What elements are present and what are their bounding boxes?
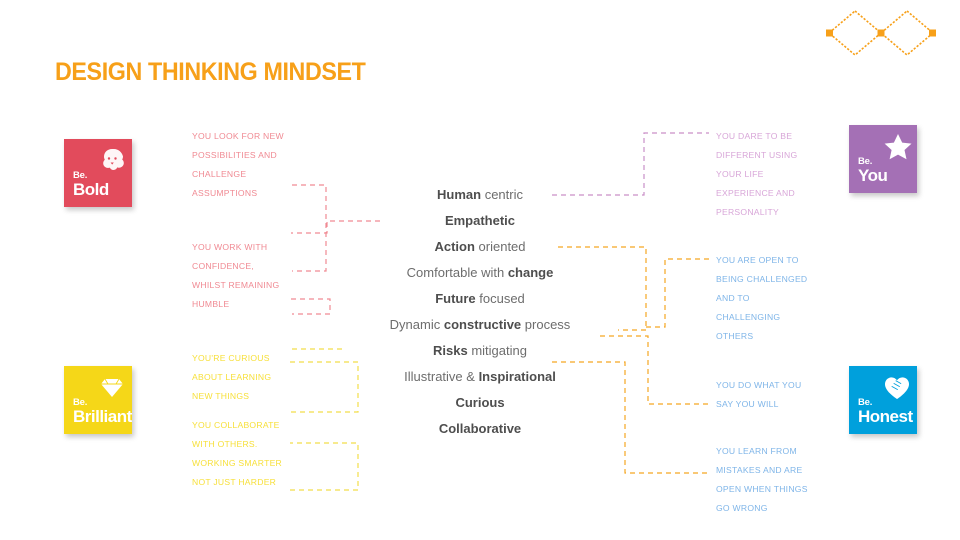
mindset-item: Empathetic <box>360 208 600 234</box>
mindset-item-prefix: Dynamic <box>390 317 444 332</box>
badge-word: Honest <box>858 408 913 425</box>
mindset-item: Curious <box>360 390 600 416</box>
mindset-item-keyword: constructive <box>444 317 521 332</box>
mindset-item-keyword: Empathetic <box>445 213 515 228</box>
text-block-you-1: YOU DARE TO BE DIFFERENT USING YOUR LIFE… <box>716 127 811 222</box>
text-block-brilliant-2: YOU COLLABORATE WITH OTHERS. WORKING SMA… <box>192 416 284 492</box>
mindset-item-suffix: focused <box>476 291 525 306</box>
double-diamond-logo <box>824 8 936 58</box>
mindset-item-keyword: Curious <box>455 395 504 410</box>
slide-canvas: DESIGN THINKING MINDSET <box>0 0 960 540</box>
mindset-item: Collaborative <box>360 416 600 442</box>
mindset-item-keyword: Human <box>437 187 481 202</box>
mindset-item: Comfortable with change <box>360 260 600 286</box>
text-block-honest-1: YOU DO WHAT YOU SAY YOU WILL <box>716 376 808 414</box>
text-block-honest-2: YOU LEARN FROM MISTAKES AND ARE OPEN WHE… <box>716 442 808 518</box>
badge-label: Be. You <box>858 157 887 185</box>
mindset-item: Risks mitigating <box>360 338 600 364</box>
mindset-list: Human centricEmpatheticAction orientedCo… <box>360 182 600 442</box>
mindset-item-suffix: centric <box>481 187 523 202</box>
mindset-item-keyword: Inspirational <box>479 369 556 384</box>
badge-label: Be. Brilliant <box>73 398 132 426</box>
badge-be-honest[interactable]: Be. Honest <box>849 366 917 434</box>
badge-be-brilliant[interactable]: Be. Brilliant <box>64 366 132 434</box>
badge-prefix: Be. <box>858 398 913 408</box>
badge-word: Brilliant <box>73 408 132 425</box>
text-block-bold-1: YOU LOOK FOR NEW POSSIBILITIES AND CHALL… <box>192 127 284 203</box>
badge-be-bold[interactable]: Be. Bold <box>64 139 132 207</box>
badge-label: Be. Bold <box>73 171 109 199</box>
mindset-item: Illustrative & Inspirational <box>360 364 600 390</box>
text-block-brilliant-1: YOU'RE CURIOUS ABOUT LEARNING NEW THINGS <box>192 349 284 406</box>
mindset-item-suffix: mitigating <box>468 343 527 358</box>
mindset-item: Dynamic constructive process <box>360 312 600 338</box>
mindset-item-prefix: Comfortable with <box>407 265 508 280</box>
mindset-item-prefix: Illustrative & <box>404 369 478 384</box>
badge-prefix: Be. <box>73 398 132 408</box>
mindset-item: Action oriented <box>360 234 600 260</box>
badge-prefix: Be. <box>73 171 109 181</box>
page-title: DESIGN THINKING MINDSET <box>55 58 366 87</box>
mindset-item: Human centric <box>360 182 600 208</box>
badge-be-you[interactable]: Be. You <box>849 125 917 193</box>
mindset-item-keyword: Risks <box>433 343 468 358</box>
mindset-item-suffix: oriented <box>475 239 526 254</box>
text-block-bold-2: YOU WORK WITH CONFIDENCE, WHILST REMAINI… <box>192 238 284 314</box>
mindset-item-keyword: Future <box>435 291 475 306</box>
text-block-you-2: YOU ARE OPEN TO BEING CHALLENGED AND TO … <box>716 251 808 346</box>
badge-word: Bold <box>73 181 109 198</box>
mindset-item-keyword: change <box>508 265 554 280</box>
mindset-item-keyword: Action <box>434 239 474 254</box>
badge-prefix: Be. <box>858 157 887 167</box>
badge-label: Be. Honest <box>858 398 913 426</box>
mindset-item-keyword: Collaborative <box>439 421 521 436</box>
mindset-item-suffix: process <box>521 317 570 332</box>
badge-word: You <box>858 167 887 184</box>
mindset-item: Future focused <box>360 286 600 312</box>
